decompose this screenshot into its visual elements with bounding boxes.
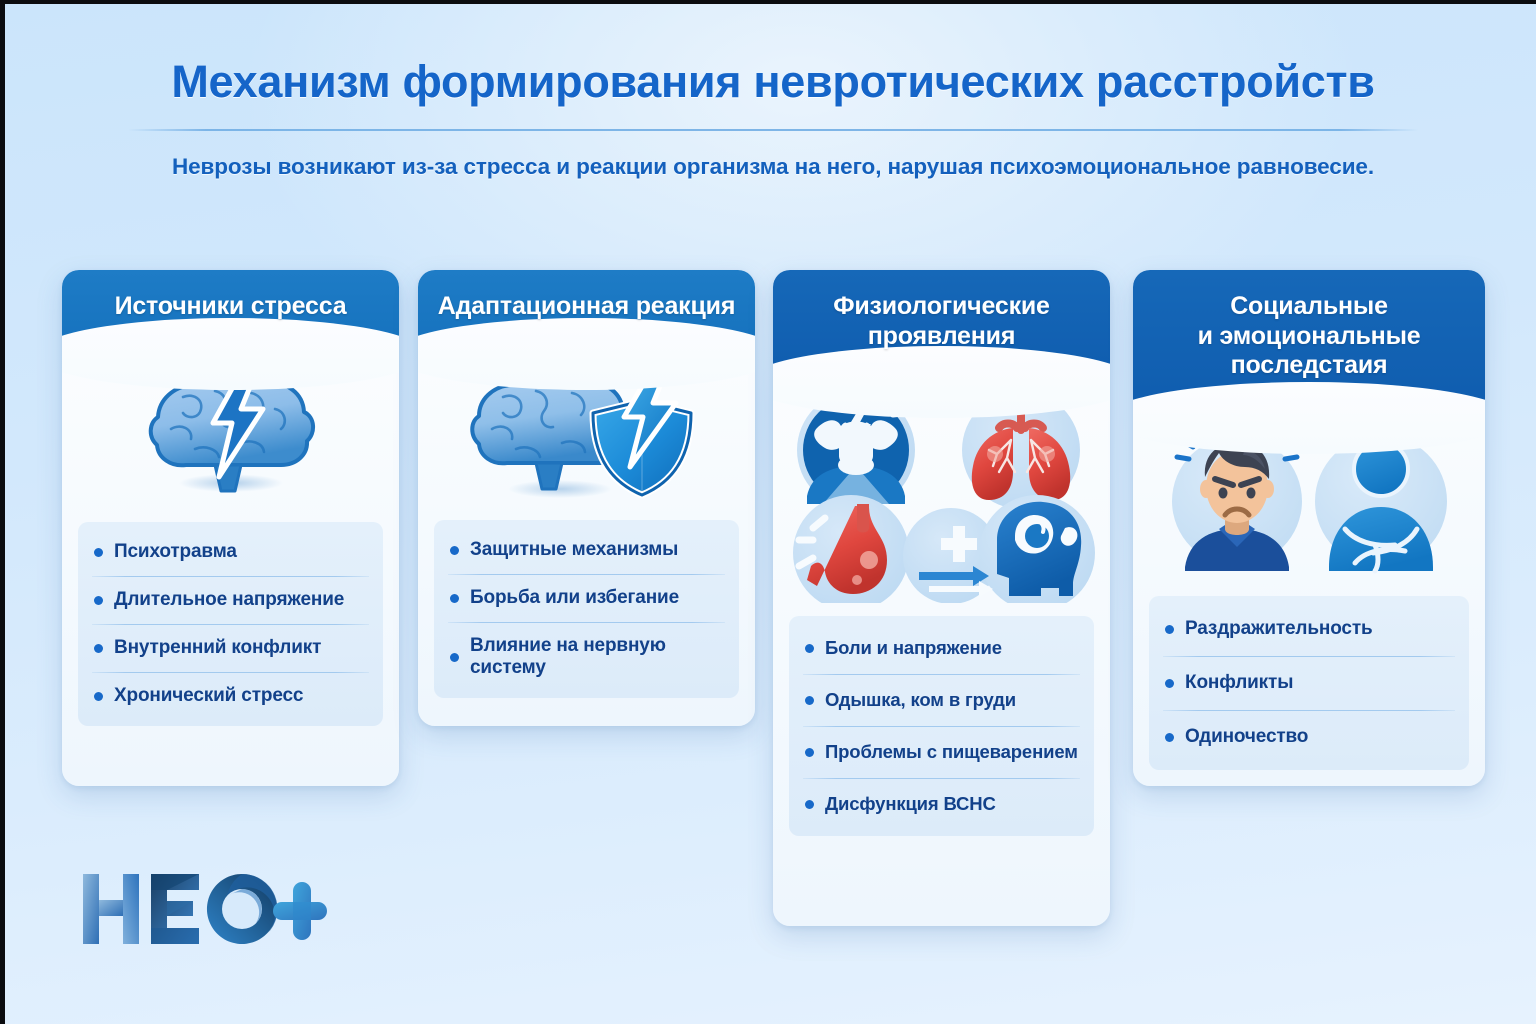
list-item-label: Боли и напряжение (825, 637, 1002, 659)
bullet-dot-icon (805, 696, 814, 705)
neo-plus-logo-icon (77, 866, 327, 952)
list-item[interactable]: Влияние на нервную систему (434, 622, 739, 692)
list-item-label: Защитные механизмы (470, 539, 678, 561)
bullet-dot-icon (450, 546, 459, 555)
list-item-label: Длительное напряжение (114, 589, 344, 611)
list-item-label: Хронический стресс (114, 685, 303, 707)
list-item-label: Одиночество (1185, 726, 1308, 748)
list-item-label: Дисфункция ВСНС (825, 793, 996, 815)
list-item-label: Борьба или избегание (470, 587, 679, 609)
bullet-dot-icon (1165, 679, 1174, 688)
list-item[interactable]: Раздражительность (1149, 602, 1469, 656)
card4-title-line2: и эмоциональные (1133, 322, 1485, 352)
list-item-label: Психотравма (114, 541, 237, 563)
bullet-dot-icon (94, 692, 103, 701)
list-item-label: Одышка, ком в груди (825, 689, 1016, 711)
list-item-label: Конфликты (1185, 672, 1293, 694)
card4-header-curve (1133, 382, 1485, 454)
card2-header: Адаптационная реакция (418, 270, 755, 354)
card3-title-line1: Физиологические (773, 292, 1110, 322)
page-title: Механизм формирования невротических расс… (5, 58, 1536, 105)
bullet-dot-icon (94, 548, 103, 557)
list-item-label: Проблемы с пищеварением (825, 741, 1078, 763)
list-item[interactable]: Длительное напряжение (78, 576, 383, 624)
bullet-dot-icon (94, 596, 103, 605)
card-sources-of-stress[interactable]: Источники стресса (62, 270, 399, 786)
list-item[interactable]: Защитные механизмы (434, 526, 739, 574)
bullet-dot-icon (450, 594, 459, 603)
bullet-dot-icon (805, 644, 814, 653)
list-item[interactable]: Внутренний конфликт (78, 624, 383, 672)
card1-header-curve (62, 318, 399, 390)
card3-title-line2: проявления (773, 322, 1110, 352)
card4-list: Раздражительность Конфликты Одиночество (1149, 596, 1469, 770)
card1-title: Источники стресса (62, 292, 399, 322)
list-item[interactable]: Одышка, ком в груди (789, 674, 1094, 726)
head-nerve-icon (903, 495, 1095, 603)
list-item[interactable]: Психотравма (78, 528, 383, 576)
header-divider (128, 129, 1418, 131)
list-item[interactable]: Дисфункция ВСНС (789, 778, 1094, 830)
bullet-dot-icon (805, 800, 814, 809)
card3-list: Боли и напряжение Одышка, ком в груди Пр… (789, 616, 1094, 836)
list-item[interactable]: Боли и напряжение (789, 622, 1094, 674)
bullet-dot-icon (1165, 733, 1174, 742)
bullet-dot-icon (805, 748, 814, 757)
list-item[interactable]: Проблемы с пищеварением (789, 726, 1094, 778)
brand-logo[interactable] (77, 866, 327, 952)
card2-title: Адаптационная реакция (418, 292, 755, 322)
list-item[interactable]: Хронический стресс (78, 672, 383, 720)
bullet-dot-icon (1165, 625, 1174, 634)
card4-title-line1: Социальные (1133, 292, 1485, 322)
card4-header: Социальные и эмоциональные последстаия (1133, 270, 1485, 418)
stomach-icon (793, 495, 909, 603)
card-physiological-manifestations[interactable]: Физиологические проявления (773, 270, 1110, 926)
bullet-dot-icon (450, 653, 459, 662)
card3-header: Физиологические проявления (773, 270, 1110, 382)
card-adaptive-reaction[interactable]: Адаптационная реакция (418, 270, 755, 726)
physiological-icon-group (783, 388, 1101, 603)
page-subtitle: Неврозы возникают из-за стресса и реакци… (5, 154, 1536, 180)
card2-header-curve (418, 318, 755, 390)
page-header: Механизм формирования невротических расс… (5, 58, 1536, 180)
list-item-label: Раздражительность (1185, 618, 1373, 640)
bullet-dot-icon (94, 644, 103, 653)
card2-list: Защитные механизмы Борьба или избегание … (434, 520, 739, 698)
card3-header-curve (773, 346, 1110, 418)
lonely-person-icon (1315, 435, 1447, 571)
list-item[interactable]: Конфликты (1149, 656, 1469, 710)
list-item-label: Внутренний конфликт (114, 637, 321, 659)
list-item[interactable]: Одиночество (1149, 710, 1469, 764)
card4-title-line3: последстаия (1133, 351, 1485, 381)
list-item-label: Влияние на нервную систему (470, 635, 729, 679)
list-item[interactable]: Борьба или избегание (434, 574, 739, 622)
infographic-canvas: Механизм формирования невротических расс… (0, 0, 1536, 1024)
card1-header: Источники стресса (62, 270, 399, 354)
card1-list: Психотравма Длительное напряжение Внутре… (78, 522, 383, 726)
card-social-emotional-consequences[interactable]: Социальные и эмоциональные последстаия (1133, 270, 1485, 786)
